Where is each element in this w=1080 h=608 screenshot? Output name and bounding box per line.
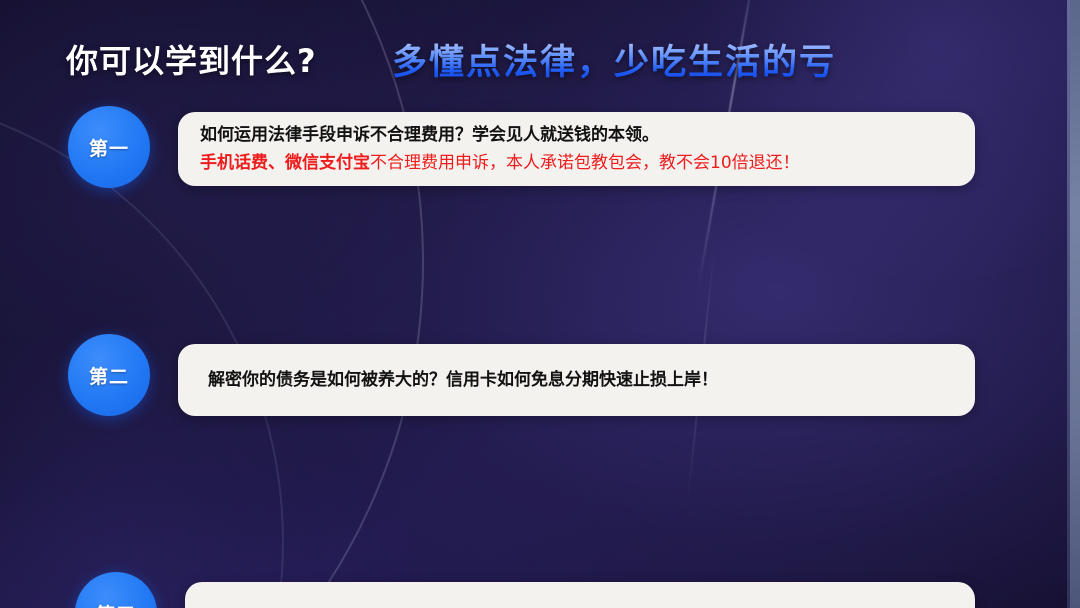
badge-label: 第一	[89, 134, 129, 161]
list-item: 第三 哪些钱是可以不用还的？生活中如何最小成本维权？	[0, 340, 1080, 426]
topic-card-line-highlight: 手机话费、微信支付宝不合理费用申诉，本人承诺包教包会，教不会10倍退还！	[200, 151, 953, 176]
list-item: 第二 解密你的债务是如何被养大的？信用卡如何免息分期快速止损上岸！	[0, 222, 1080, 308]
list-item: 第一 如何运用法律手段申诉不合理费用？学会见人就送钱的本领。 手机话费、微信支付…	[0, 104, 1080, 190]
list-item: 第四 法律赛道风口巨大的机会在哪里？普通人如何能把握？	[0, 458, 1080, 544]
page-subtitle: 多懂点法律，少吃生活的亏	[392, 34, 836, 85]
topic-card-line-primary: 如何运用法律手段申诉不合理费用？学会见人就送钱的本领。	[200, 123, 953, 148]
topic-list: 第一 如何运用法律手段申诉不合理费用？学会见人就送钱的本领。 手机话费、微信支付…	[0, 104, 1080, 564]
topic-card-highlight-rest: 不合理费用申诉，本人承诺包教包会，教不会10倍退还！	[370, 153, 800, 173]
topic-card-3[interactable]: 哪些钱是可以不用还的？生活中如何最小成本维权？	[185, 582, 975, 608]
badge-label: 第三	[96, 600, 136, 608]
badge-step-1: 第一	[68, 106, 150, 188]
topic-card-1[interactable]: 如何运用法律手段申诉不合理费用？学会见人就送钱的本领。 手机话费、微信支付宝不合…	[178, 112, 975, 186]
page-title: 你可以学到什么?	[66, 36, 317, 82]
slide-canvas: 你可以学到什么? 多懂点法律，少吃生活的亏 第一 如何运用法律手段申诉不合理费用…	[0, 0, 1080, 608]
header: 你可以学到什么? 多懂点法律，少吃生活的亏	[0, 36, 1080, 92]
topic-card-highlight-bold: 手机话费、微信支付宝	[200, 153, 370, 173]
